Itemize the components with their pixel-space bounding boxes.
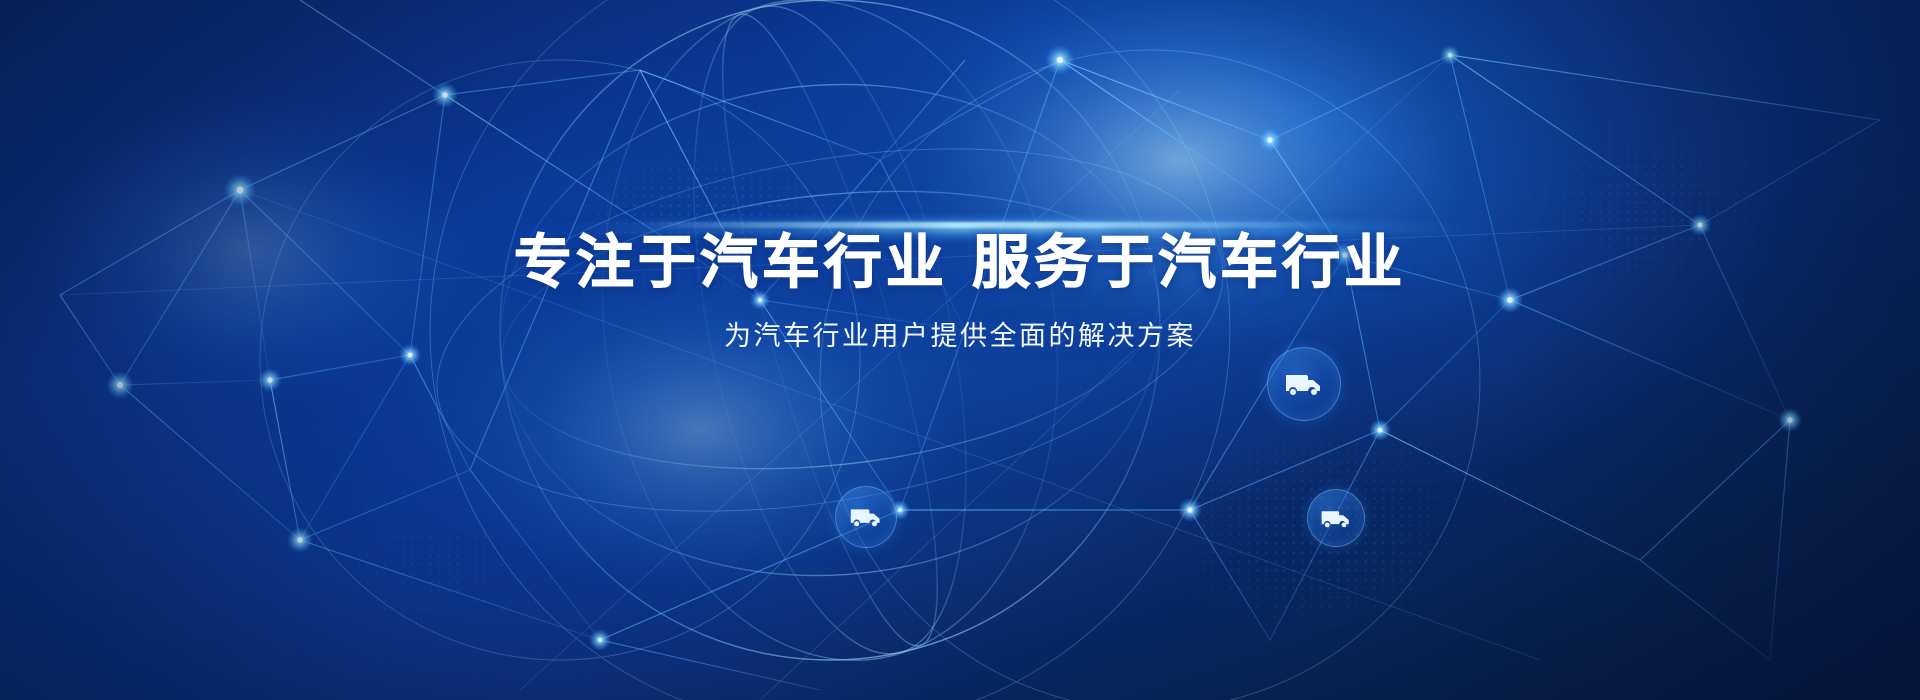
hero-subtitle: 为汽车行业用户提供全面的解决方案 [0, 314, 1920, 353]
dot-matrix-texture [1190, 440, 1520, 670]
hero-banner: 专注于汽车行业 服务于汽车行业 为汽车行业用户提供全面的解决方案 [0, 0, 1920, 700]
hero-copy: 专注于汽车行业 服务于汽车行业 为汽车行业用户提供全面的解决方案 [0, 228, 1920, 353]
hero-title: 专注于汽车行业 服务于汽车行业 [0, 228, 1920, 296]
truck-icon [1284, 371, 1324, 397]
truck-badge [1307, 489, 1365, 547]
truck-icon [1320, 508, 1352, 529]
truck-badge [835, 486, 897, 548]
dot-matrix-texture [300, 470, 580, 660]
truck-badge [1267, 347, 1341, 421]
truck-icon [849, 506, 883, 528]
